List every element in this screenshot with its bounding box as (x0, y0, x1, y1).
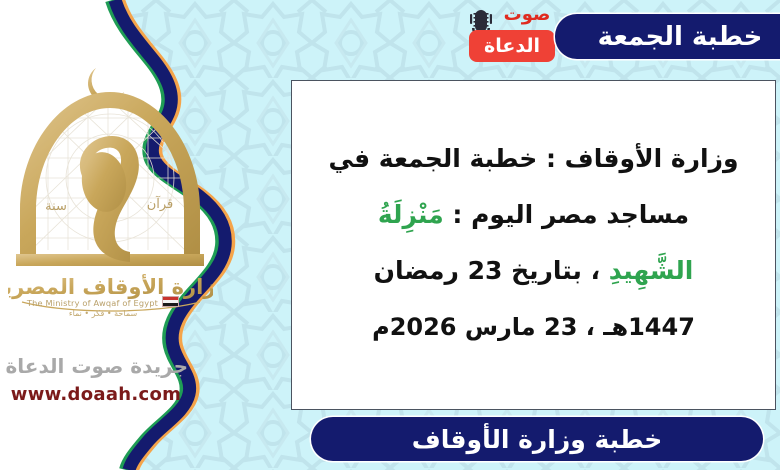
card-line-4-text: 1447هـ ، 23 مارس 2026م (372, 313, 695, 341)
logo-english-text: The Ministry of Awqaf of Egypt (27, 298, 158, 308)
brand-logo[interactable]: صوت الدعاة (466, 2, 558, 66)
banner-bottom: خطبة وزارة الأوقاف (311, 417, 763, 461)
logo-inner-word-sunna: سنة (45, 199, 67, 214)
logo-inner-word-quran: قرآن (147, 195, 174, 212)
poster-root: قرآن سنة وزارة الأوقاف المصرية The Minis… (0, 0, 780, 470)
brand-top-word: صوت (496, 5, 558, 25)
khutbah-info-card: وزارة الأوقاف : خطبة الجمعة في مساجد مصر… (291, 80, 776, 410)
card-line-3: الشَّهِيدِ ، بتاريخ 23 رمضان (310, 243, 757, 299)
egypt-flag-icon (162, 296, 179, 307)
logo-motto: سماحة • فكر • نماء (18, 309, 188, 318)
ministry-of-awqaf-dome-icon: قرآن سنة وزارة الأوقاف المصرية (8, 58, 213, 326)
brand-plate-word: الدعاة (484, 37, 540, 56)
card-line-1: وزارة الأوقاف : خطبة الجمعة في (310, 131, 757, 187)
card-line-3-highlight: الشَّهِيدِ (609, 256, 694, 285)
card-line-1-text: وزارة الأوقاف : خطبة الجمعة في (328, 144, 738, 173)
banner-top: خطبة الجمعة (555, 14, 780, 59)
paper-name-watermark: جريدة صوت الدعاة (8, 354, 188, 378)
card-line-4: 1447هـ ، 23 مارس 2026م (310, 299, 757, 355)
paper-url-watermark: www.doaah.com (6, 384, 186, 405)
brand-plate: الدعاة (469, 30, 555, 62)
card-line-2-highlight: مَنْزِلَةُ (378, 200, 444, 229)
card-line-2: مساجد مصر اليوم : مَنْزِلَةُ (310, 187, 757, 243)
logo-english-name: The Ministry of Awqaf of Egypt (18, 296, 188, 308)
banner-top-label: خطبة الجمعة (598, 22, 763, 52)
banner-bottom-label: خطبة وزارة الأوقاف (412, 425, 662, 454)
card-line-2-prefix: مساجد مصر اليوم : (444, 200, 689, 229)
card-line-3-suffix: ، بتاريخ 23 رمضان (374, 256, 609, 285)
